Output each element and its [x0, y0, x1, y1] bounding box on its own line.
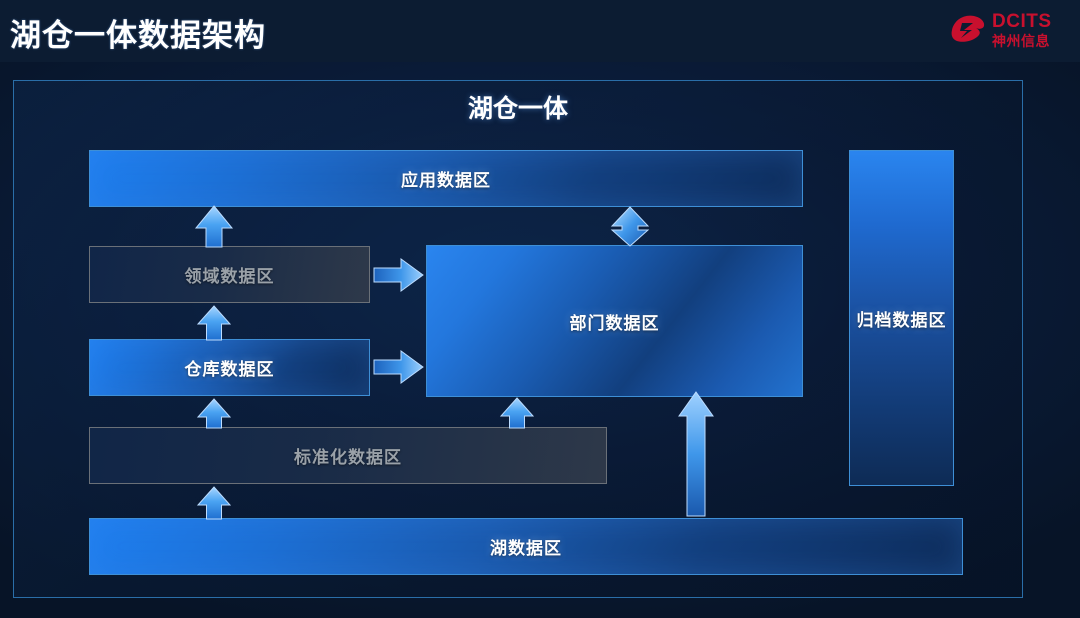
- box-department-data-zone[interactable]: 部门数据区: [426, 245, 803, 397]
- box-label: 湖数据区: [490, 534, 562, 559]
- box-label: 部门数据区: [570, 309, 660, 334]
- box-warehouse-data-zone[interactable]: 仓库数据区: [89, 339, 370, 396]
- brand-logo: DCITS 神州信息: [948, 8, 1066, 52]
- box-label: 仓库数据区: [185, 355, 275, 380]
- dcits-swirl-logo-icon: [948, 12, 988, 46]
- box-label: 应用数据区: [401, 166, 491, 191]
- panel-title: 湖仓一体: [14, 89, 1022, 125]
- box-lake-data-zone[interactable]: 湖数据区: [89, 518, 963, 575]
- logo-text-cn: 神州信息: [992, 31, 1050, 51]
- box-archive-data-zone[interactable]: 归档数据区: [849, 150, 954, 486]
- box-label: 归档数据区: [857, 306, 947, 331]
- page-header: 湖仓一体数据架构 DCITS 神州信息: [0, 0, 1080, 62]
- box-label: 领域数据区: [185, 262, 275, 287]
- page-title: 湖仓一体数据架构: [10, 10, 266, 55]
- box-standardized-data-zone[interactable]: 标准化数据区: [89, 427, 607, 484]
- box-application-data-zone[interactable]: 应用数据区: [89, 150, 803, 207]
- box-domain-data-zone[interactable]: 领域数据区: [89, 246, 370, 303]
- box-label: 标准化数据区: [294, 443, 402, 468]
- logo-text-en: DCITS: [992, 11, 1052, 33]
